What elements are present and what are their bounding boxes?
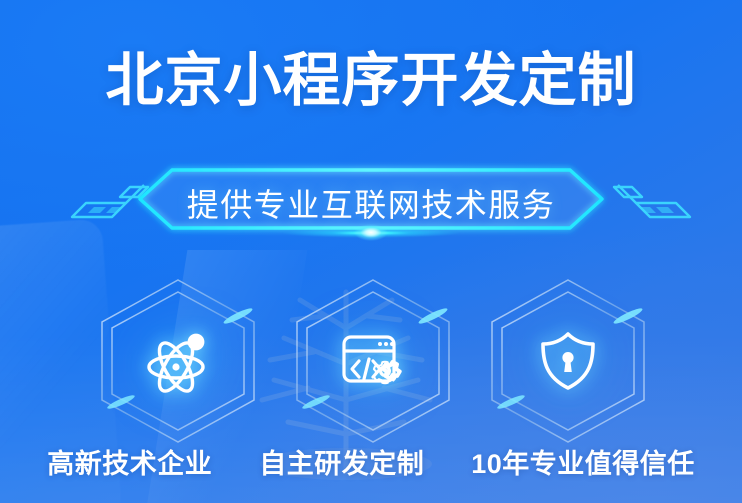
feature-item-2[interactable]	[478, 278, 658, 444]
feature-icon-row	[0, 278, 742, 448]
subtitle-text: 提供专业互联网技术服务	[187, 180, 556, 226]
feature-label-row: 高新技术企业 自主研发定制 10年专业值得信任	[0, 442, 742, 481]
feature-label-2: 10年专业值得信任	[471, 442, 695, 481]
feature-item-0[interactable]	[88, 278, 268, 444]
shield-lock-icon	[532, 325, 604, 397]
atom-icon	[142, 325, 214, 397]
feature-label-1: 自主研发定制	[259, 442, 424, 481]
subtitle-banner: 提供专业互联网技术服务	[0, 167, 742, 239]
promo-banner: 北京小程序开发定制	[0, 0, 742, 503]
deco-slash-right-icon	[602, 179, 698, 223]
code-window-gear-icon	[337, 325, 409, 397]
feature-item-1[interactable]	[283, 278, 463, 444]
page-title: 北京小程序开发定制	[0, 49, 742, 114]
feature-label-0: 高新技术企业	[47, 442, 212, 481]
